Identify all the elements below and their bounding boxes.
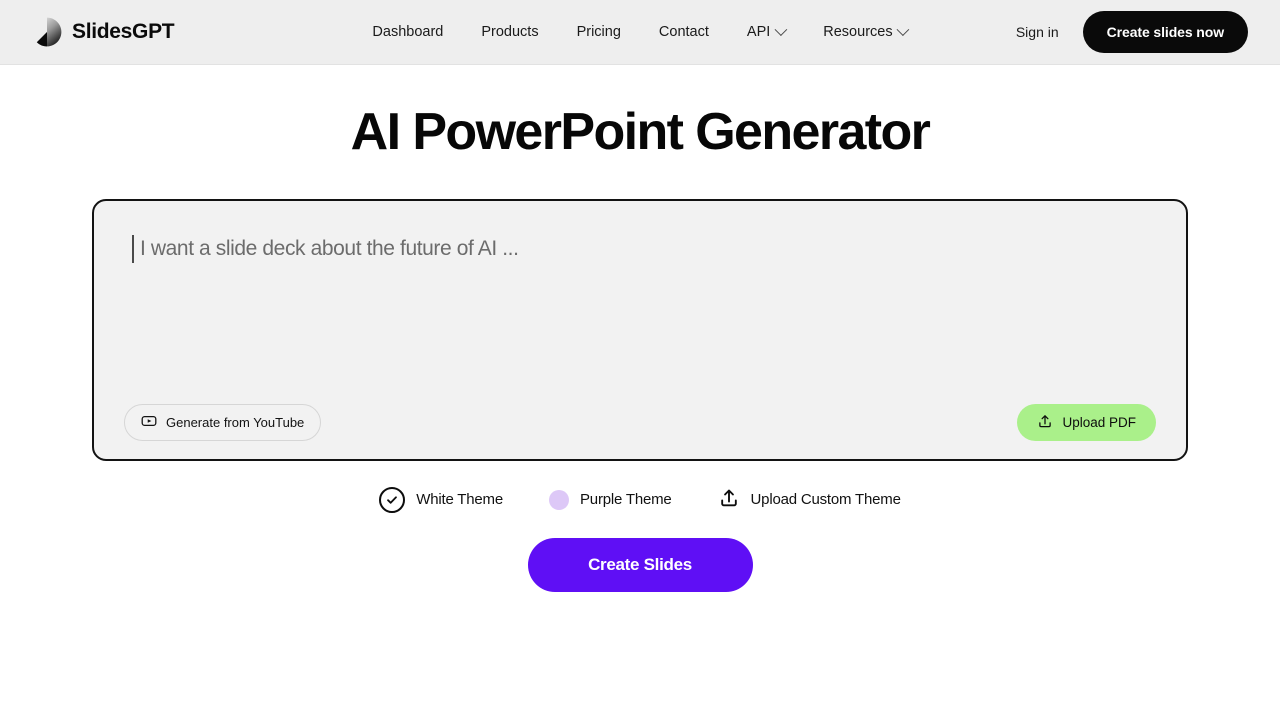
brand-logo-link[interactable]: SlidesGPT (32, 17, 174, 47)
sign-in-link[interactable]: Sign in (1016, 24, 1059, 40)
upload-icon (718, 487, 740, 513)
create-slides-action-row: Create Slides (0, 538, 1280, 592)
generate-from-youtube-button[interactable]: Generate from YouTube (124, 404, 321, 441)
theme-option-label: Purple Theme (580, 491, 672, 508)
nav-item-dashboard[interactable]: Dashboard (372, 24, 443, 40)
nav-item-pricing[interactable]: Pricing (577, 24, 621, 40)
youtube-icon (141, 413, 157, 432)
slidesgpt-pie-logo-icon (32, 17, 62, 47)
primary-nav: Dashboard Products Pricing Contact API R… (372, 24, 907, 40)
theme-option-white[interactable]: White Theme (379, 487, 503, 513)
nav-label: Dashboard (372, 24, 443, 40)
chevron-down-icon (897, 23, 910, 36)
create-slides-button[interactable]: Create Slides (528, 538, 753, 592)
brand-name: SlidesGPT (72, 20, 174, 44)
prompt-placeholder: I want a slide deck about the future of … (140, 237, 519, 261)
nav-label: Products (481, 24, 538, 40)
create-slides-now-button[interactable]: Create slides now (1083, 11, 1248, 53)
upload-icon (1037, 413, 1053, 432)
composer-footer: Generate from YouTube Upload PDF (94, 404, 1186, 441)
main-content: AI PowerPoint Generator I want a slide d… (0, 65, 1280, 592)
page-title: AI PowerPoint Generator (0, 103, 1280, 163)
prompt-composer-card[interactable]: I want a slide deck about the future of … (92, 199, 1188, 461)
theme-option-label: Upload Custom Theme (751, 491, 901, 508)
nav-item-products[interactable]: Products (481, 24, 538, 40)
upload-pdf-button[interactable]: Upload PDF (1017, 404, 1156, 441)
upload-pdf-label: Upload PDF (1062, 415, 1136, 430)
purple-dot-icon (549, 490, 569, 510)
nav-label: Pricing (577, 24, 621, 40)
prompt-input-area[interactable]: I want a slide deck about the future of … (132, 235, 1148, 263)
theme-option-upload-custom[interactable]: Upload Custom Theme (718, 487, 901, 513)
header-actions: Sign in Create slides now (1016, 11, 1248, 53)
theme-option-label: White Theme (416, 491, 503, 508)
nav-label: Resources (823, 24, 892, 40)
chevron-down-icon (774, 23, 787, 36)
nav-label: API (747, 24, 770, 40)
nav-item-contact[interactable]: Contact (659, 24, 709, 40)
youtube-button-label: Generate from YouTube (166, 415, 304, 430)
nav-label: Contact (659, 24, 709, 40)
text-caret (132, 235, 134, 263)
site-header: SlidesGPT Dashboard Products Pricing Con… (0, 0, 1280, 65)
nav-item-resources[interactable]: Resources (823, 24, 907, 40)
theme-option-purple[interactable]: Purple Theme (549, 490, 672, 510)
nav-item-api[interactable]: API (747, 24, 785, 40)
theme-selector: White Theme Purple Theme Upload Custom T… (0, 487, 1280, 513)
check-circle-icon (379, 487, 405, 513)
